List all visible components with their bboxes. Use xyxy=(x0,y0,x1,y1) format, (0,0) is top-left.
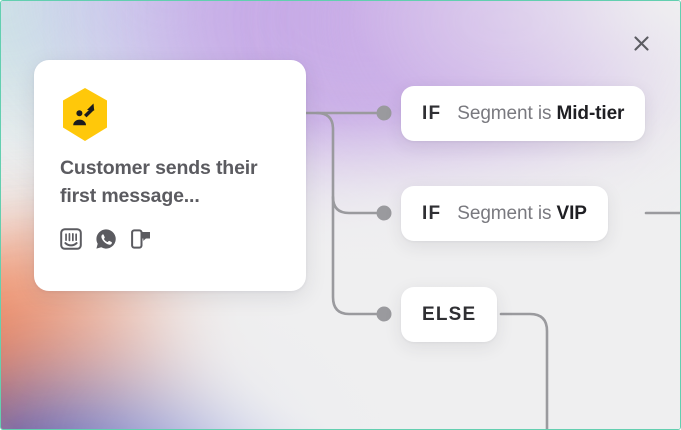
branch-keyword: IF xyxy=(422,103,441,125)
connector-dot-vip xyxy=(377,206,392,221)
rocket-person-hexagon-icon xyxy=(60,87,110,142)
connector-to-vip xyxy=(333,197,376,213)
branch-condition-value: Mid-tier xyxy=(557,103,625,124)
branch-condition: Segment is Mid-tier xyxy=(457,103,624,125)
branch-node-vip[interactable]: IF Segment is VIP xyxy=(401,186,608,241)
branch-condition-prefix: Segment is xyxy=(457,103,551,124)
sms-icon[interactable] xyxy=(130,228,152,250)
branch-node-else[interactable]: ELSE xyxy=(401,287,497,342)
close-icon xyxy=(633,35,650,52)
connector-dot-mid-tier xyxy=(377,106,392,121)
branch-condition-prefix: Segment is xyxy=(457,203,551,224)
branch-condition: Segment is VIP xyxy=(457,203,587,225)
workflow-canvas: Customer sends their first message... xyxy=(0,0,681,430)
branch-condition-value: VIP xyxy=(557,203,587,224)
trigger-card[interactable]: Customer sends their first message... xyxy=(34,60,306,291)
branch-node-mid-tier[interactable]: IF Segment is Mid-tier xyxy=(401,86,645,141)
channel-icon-row xyxy=(60,228,152,250)
intercom-icon[interactable] xyxy=(60,228,82,250)
whatsapp-icon[interactable] xyxy=(95,228,117,250)
branch-keyword: IF xyxy=(422,203,441,225)
connector-dot-else xyxy=(377,307,392,322)
close-button[interactable] xyxy=(628,30,654,56)
connector-else-outgoing xyxy=(501,314,547,430)
trigger-title: Customer sends their first message... xyxy=(60,154,288,210)
branch-keyword: ELSE xyxy=(422,304,476,326)
